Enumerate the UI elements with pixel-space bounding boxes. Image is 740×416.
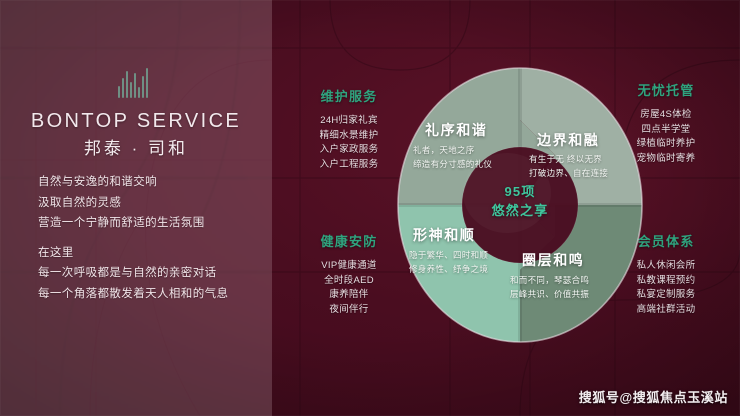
quadrant-line: 缔造有分寸感的礼仪 [413, 158, 492, 172]
column-heading: 健康安防 [297, 231, 401, 250]
lead-line: 每一次呼吸都是与自然的亲密对话 [38, 263, 268, 284]
list-item: 入户家政服务 [297, 143, 401, 158]
quadrant-line: 礼者，天地之序 [413, 144, 492, 158]
hub-count: 95项 [458, 182, 582, 201]
pinwheel-diagram: 礼序和谐 礼者，天地之序 缔造有分寸感的礼仪 边界和融 有生于无 终以无界 打破… [395, 65, 645, 345]
quadrant-title-bian-jie-he-rong: 边界和融 [537, 130, 599, 150]
lead-line: 自然与安逸的和谐交响 [38, 172, 268, 193]
list-item: 康养陪伴 [297, 288, 401, 303]
slide-canvas: BONTOP SERVICE 邦泰 · 司和 自然与安逸的和谐交响 汲取自然的灵… [0, 0, 740, 416]
list-item: 全时段AED [297, 274, 401, 289]
list-item: 入户工程服务 [297, 158, 401, 173]
list-item: 精细水景维护 [297, 129, 401, 144]
quadrant-title-li-xu-he-xie: 礼序和谐 [425, 120, 487, 140]
quadrant-lines-li-xu-he-xie: 礼者，天地之序 缔造有分寸感的礼仪 [413, 144, 492, 171]
brand-title-cn: 邦泰 · 司和 [0, 134, 272, 159]
quadrant-line: 隐于繁华、四时和顺 [409, 249, 488, 263]
column-item-list: 24H归家礼宾 精细水景维护 入户家政服务 入户工程服务 [297, 114, 401, 172]
watermark-label: 搜狐号@搜狐焦点玉溪站 [579, 387, 728, 406]
lead-line: 在这里 [38, 243, 268, 264]
column-item-list: VIP健康通道 全时段AED 康养陪伴 夜间伴行 [297, 259, 401, 317]
bontop-bars-mark [118, 68, 148, 98]
quadrant-lines-bian-jie-he-rong: 有生于无 终以无界 打破边界、自在连接 [529, 153, 608, 180]
lead-line: 汲取自然的灵感 [38, 193, 268, 214]
list-item: 夜间伴行 [297, 303, 401, 318]
column-heading: 维护服务 [297, 86, 401, 105]
lead-spacer [38, 234, 268, 243]
service-column-health-security: 健康安防 VIP健康通道 全时段AED 康养陪伴 夜间伴行 [297, 231, 401, 317]
quadrant-line: 有生于无 终以无界 [529, 153, 608, 167]
quadrant-lines-xing-shen-he-shun: 隐于繁华、四时和顺 修身养性、纾争之境 [409, 249, 488, 276]
diagram-hub-label: 95项 悠然之享 [458, 182, 582, 220]
list-item: VIP健康通道 [297, 259, 401, 274]
quadrant-lines-quan-ceng-he-ming: 和而不同，琴瑟合鸣 层峰共识、价值共振 [510, 274, 589, 301]
quadrant-line: 修身养性、纾争之境 [409, 263, 488, 277]
quadrant-line: 打破边界、自在连接 [529, 167, 608, 181]
lead-line: 每一个角落都散发着天人相和的气息 [38, 284, 268, 305]
lead-line: 营造一个宁静而舒适的生活氛围 [38, 213, 268, 234]
brand-lead-text: 自然与安逸的和谐交响 汲取自然的灵感 营造一个宁静而舒适的生活氛围 在这里 每一… [38, 172, 268, 304]
quadrant-line: 层峰共识、价值共振 [510, 288, 589, 302]
quadrant-line: 和而不同，琴瑟合鸣 [510, 274, 589, 288]
brand-title-en: BONTOP SERVICE [0, 110, 272, 133]
quadrant-title-quan-ceng-he-ming: 圈层和鸣 [522, 250, 584, 270]
list-item: 24H归家礼宾 [297, 114, 401, 129]
service-column-maintenance-service: 维护服务 24H归家礼宾 精细水景维护 入户家政服务 入户工程服务 [297, 86, 401, 172]
quadrant-title-xing-shen-he-shun: 形神和顺 [413, 225, 475, 245]
hub-caption: 悠然之享 [458, 201, 582, 220]
